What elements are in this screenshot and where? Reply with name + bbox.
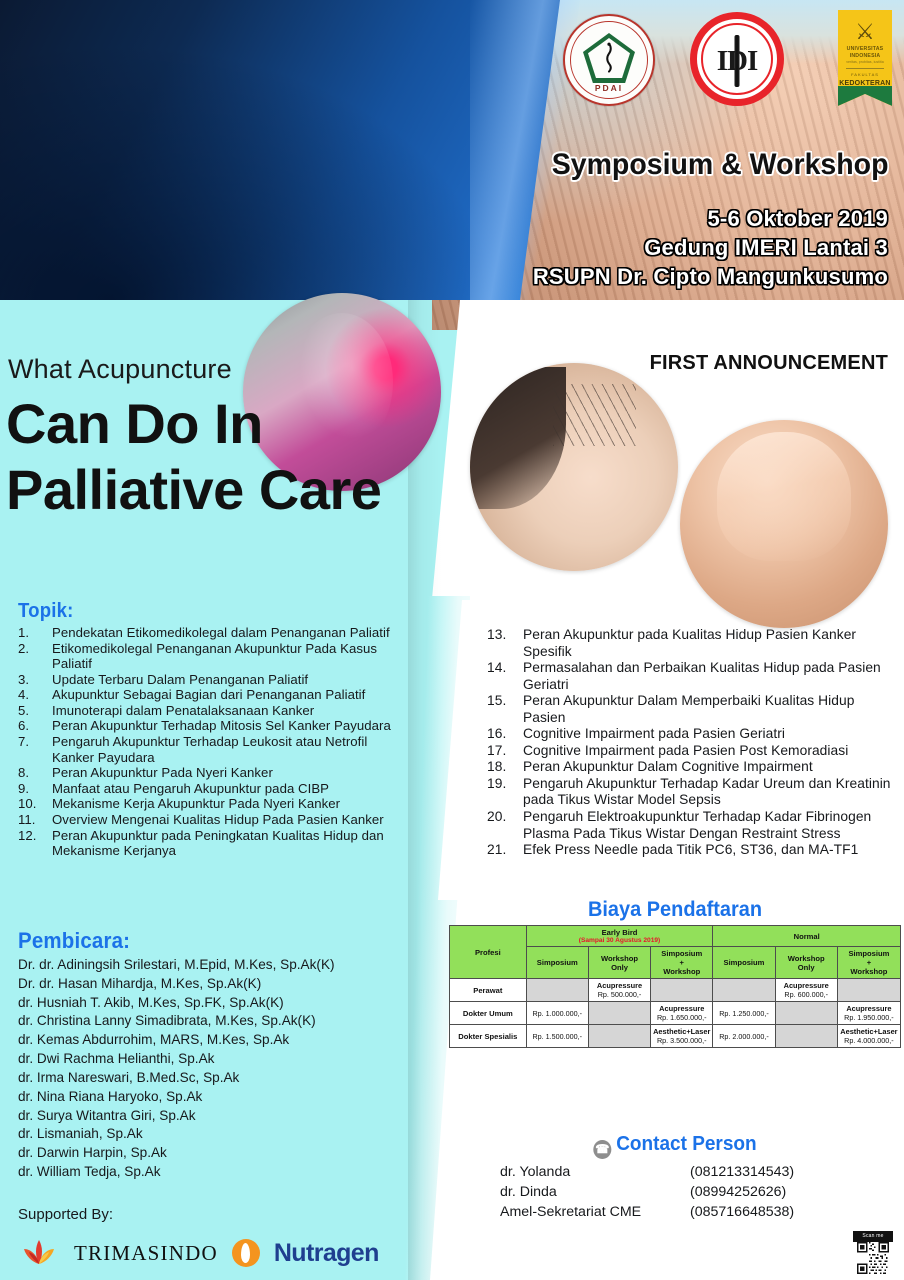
fee-cell-amount: Rp. 4.000.000,- bbox=[844, 1036, 894, 1045]
topic-item: 14.Permasalahan dan Perbaikan Kualitas H… bbox=[487, 660, 897, 693]
topic-number: 6. bbox=[18, 718, 46, 734]
table-row: Dokter SpesialisRp. 1.500.000,-Aesthetic… bbox=[450, 1025, 901, 1048]
fee-cell-price: Rp. 1.500.000,- bbox=[526, 1025, 588, 1048]
col-profesi: Profesi bbox=[450, 926, 527, 979]
speaker-item: dr. Dwi Rachma Helianthi, Sp.Ak bbox=[18, 1050, 418, 1069]
sponsor-logos: TRIMASINDO Nutragen bbox=[18, 1236, 379, 1270]
fee-cell-amount: Rp. 1.650.000,- bbox=[657, 1013, 707, 1022]
contact-person-row: dr. Yolanda(081213314543) bbox=[500, 1162, 860, 1182]
fee-cell-empty bbox=[588, 1002, 650, 1025]
topic-number: 10. bbox=[18, 796, 46, 812]
fee-subcolumn-header: WorkshopOnly bbox=[775, 947, 837, 979]
speaker-item: dr. William Tedja, Sp.Ak bbox=[18, 1163, 418, 1182]
speaker-item: dr. Lismaniah, Sp.Ak bbox=[18, 1125, 418, 1144]
ui-fakultas-label: FAKULTAS bbox=[838, 72, 892, 77]
topic-text: Pengaruh Akupunktur Terhadap Leukosit at… bbox=[52, 734, 367, 765]
topic-item: 12.Peran Akupunktur pada Peningkatan Kua… bbox=[18, 828, 406, 859]
event-institution: RSUPN Dr. Cipto Mangunkusumo bbox=[533, 262, 888, 291]
topic-number: 11. bbox=[18, 812, 46, 828]
fee-cell-empty bbox=[713, 979, 775, 1002]
fee-cell-amount: Rp. 500.000,- bbox=[598, 990, 642, 999]
speaker-item: dr. Darwin Harpin, Sp.Ak bbox=[18, 1144, 418, 1163]
topic-number: 13. bbox=[487, 627, 515, 644]
fee-cell-label: Acupressure bbox=[777, 981, 836, 990]
registration-fee-table: Profesi Early Bird (Sampai 30 Agustus 20… bbox=[449, 925, 901, 1048]
pdai-logo: PDAI bbox=[563, 14, 655, 106]
fee-subcolumn-header: Simposium+Workshop bbox=[651, 947, 713, 979]
topic-text: Peran Akupunktur Terhadap Mitosis Sel Ka… bbox=[52, 718, 391, 733]
pdai-serpent-icon bbox=[605, 43, 614, 73]
topic-item: 5.Imunoterapi dalam Penatalaksanaan Kank… bbox=[18, 703, 406, 719]
fee-cell-amount: Rp. 3.500.000,- bbox=[657, 1036, 707, 1045]
fee-row-profession: Perawat bbox=[450, 979, 527, 1002]
topic-item: 6.Peran Akupunktur Terhadap Mitosis Sel … bbox=[18, 718, 406, 734]
topic-text: Update Terbaru Dalam Penanganan Paliatif bbox=[52, 672, 308, 687]
fee-cell-price: Rp. 2.000.000,- bbox=[713, 1025, 775, 1048]
fee-cell-empty bbox=[651, 979, 713, 1002]
speaker-item: dr. Husniah T. Akib, M.Kes, Sp.FK, Sp.Ak… bbox=[18, 994, 418, 1013]
topic-number: 16. bbox=[487, 726, 515, 743]
contact-person-row: Amel-Sekretariat CME(085716648538) bbox=[500, 1202, 860, 1222]
topic-text: Efek Press Needle pada Titik PC6, ST36, … bbox=[523, 842, 858, 857]
col-group-normal: Normal bbox=[713, 926, 901, 947]
topic-number: 19. bbox=[487, 776, 515, 793]
fee-cell-price: AcupressureRp. 1.950.000,- bbox=[837, 1002, 900, 1025]
contact-heading-text: Contact Person bbox=[616, 1133, 756, 1155]
fee-table-body: PerawatAcupressureRp. 500.000,-Acupressu… bbox=[450, 979, 901, 1048]
contact-person-name: dr. Yolanda bbox=[500, 1162, 690, 1182]
fee-cell-amount: Rp. 2.000.000,- bbox=[719, 1032, 769, 1041]
topic-item: 19.Pengaruh Akupunktur Terhadap Kadar Ur… bbox=[487, 776, 897, 809]
speaker-item: dr. Nina Riana Haryoko, Sp.Ak bbox=[18, 1088, 418, 1107]
first-announcement-badge: FIRST ANNOUNCEMENT bbox=[650, 352, 888, 375]
nutragen-grain-icon bbox=[232, 1239, 260, 1267]
contact-person-list: dr. Yolanda(081213314543)dr. Dinda(08994… bbox=[500, 1162, 860, 1222]
fee-subcolumn-header: Simposium bbox=[526, 947, 588, 979]
topic-number: 5. bbox=[18, 703, 46, 719]
speakers-list: Dr. dr. Adiningsih Srilestari, M.Epid, M… bbox=[18, 956, 418, 1182]
fee-table-head: Profesi Early Bird (Sampai 30 Agustus 20… bbox=[450, 926, 901, 979]
topic-text: Manfaat atau Pengaruh Akupunktur pada CI… bbox=[52, 781, 329, 796]
topic-text: Cognitive Impairment pada Pasien Geriatr… bbox=[523, 726, 785, 741]
fee-cell-label: Acupressure bbox=[839, 1004, 899, 1013]
topic-number: 7. bbox=[18, 734, 46, 750]
topic-text: Overview Mengenai Kualitas Hidup Pada Pa… bbox=[52, 812, 384, 827]
topic-item: 8.Peran Akupunktur Pada Nyeri Kanker bbox=[18, 765, 406, 781]
topic-item: 1.Pendekatan Etikomedikolegal dalam Pena… bbox=[18, 625, 406, 641]
col-group-early-bird: Early Bird (Sampai 30 Agustus 2019) bbox=[526, 926, 713, 947]
topic-item: 15.Peran Akupunktur Dalam Memperbaiki Ku… bbox=[487, 693, 897, 726]
topics-list-left: 1.Pendekatan Etikomedikolegal dalam Pena… bbox=[18, 625, 406, 859]
fee-cell-amount: Rp. 1.500.000,- bbox=[532, 1032, 582, 1041]
topic-number: 4. bbox=[18, 687, 46, 703]
fee-cell-label: Acupressure bbox=[652, 1004, 711, 1013]
topic-number: 3. bbox=[18, 672, 46, 688]
contact-person-phone[interactable]: (085716648538) bbox=[690, 1202, 794, 1222]
topic-number: 15. bbox=[487, 693, 515, 710]
speakers-section: Pembicara: Dr. dr. Adiningsih Srilestari… bbox=[18, 928, 418, 1182]
early-bird-label: Early Bird bbox=[528, 928, 712, 937]
fee-cell-price: Rp. 1.000.000,- bbox=[526, 1002, 588, 1025]
qr-code-block[interactable]: Scan me bbox=[852, 1230, 894, 1276]
fee-cell-price: AcupressureRp. 600.000,- bbox=[775, 979, 837, 1002]
contact-heading: ☎Contact Person bbox=[460, 1133, 889, 1159]
early-bird-deadline: (Sampai 30 Agustus 2019) bbox=[528, 937, 712, 944]
fee-cell-amount: Rp. 1.000.000,- bbox=[532, 1009, 582, 1018]
event-details: 5-6 Oktober 2019 Gedung IMERI Lantai 3 R… bbox=[533, 204, 888, 291]
topic-text: Cognitive Impairment pada Pasien Post Ke… bbox=[523, 743, 848, 758]
speaker-item: dr. Kemas Abdurrohim, MARS, M.Kes, Sp.Ak bbox=[18, 1031, 418, 1050]
topic-number: 21. bbox=[487, 842, 515, 859]
poster-root: Pertemuan Ilmiah Tahunan Perhimpunan Dok… bbox=[0, 0, 904, 1280]
topic-item: 9.Manfaat atau Pengaruh Akupunktur pada … bbox=[18, 781, 406, 797]
topic-item: 10.Mekanisme Kerja Akupunktur Pada Nyeri… bbox=[18, 796, 406, 812]
fee-cell-price: AcupressureRp. 1.650.000,- bbox=[651, 1002, 713, 1025]
topic-text: Peran Akupunktur pada Peningkatan Kualit… bbox=[52, 828, 384, 859]
topic-text: Peran Akupunktur Dalam Memperbaiki Kuali… bbox=[523, 693, 854, 725]
topic-text: Pengaruh Akupunktur Terhadap Kadar Ureum… bbox=[523, 776, 891, 808]
topic-text: Mekanisme Kerja Akupunktur Pada Nyeri Ka… bbox=[52, 796, 340, 811]
fee-cell-amount: Rp. 1.250.000,- bbox=[719, 1009, 769, 1018]
topic-number: 8. bbox=[18, 765, 46, 781]
topics-right-column: 13.Peran Akupunktur pada Kualitas Hidup … bbox=[487, 625, 897, 859]
topics-list-right: 13.Peran Akupunktur pada Kualitas Hidup … bbox=[487, 627, 897, 859]
fee-cell-empty bbox=[837, 979, 900, 1002]
fee-row-profession: Dokter Umum bbox=[450, 1002, 527, 1025]
topics-left-column: Topik: 1.Pendekatan Etikomedikolegal dal… bbox=[18, 600, 406, 859]
contact-person-row: dr. Dinda(08994252626) bbox=[500, 1182, 860, 1202]
fee-cell-empty bbox=[775, 1002, 837, 1025]
topic-text: Pengaruh Elektroakupunktur Terhadap Kada… bbox=[523, 809, 871, 841]
speaker-item: dr. Christina Lanny Simadibrata, M.Kes, … bbox=[18, 1012, 418, 1031]
fee-row-profession: Dokter Spesialis bbox=[450, 1025, 527, 1048]
topic-number: 9. bbox=[18, 781, 46, 797]
topic-text: Permasalahan dan Perbaikan Kualitas Hidu… bbox=[523, 660, 881, 692]
speaker-item: Dr. dr. Hasan Mihardja, M.Kes, Sp.Ak(K) bbox=[18, 975, 418, 994]
speaker-item: dr. Surya Witantra Giri, Sp.Ak bbox=[18, 1107, 418, 1126]
topic-text: Akupunktur Sebagai Bagian dari Penangana… bbox=[52, 687, 365, 702]
topics-heading: Topik: bbox=[18, 600, 379, 623]
event-date: 5-6 Oktober 2019 bbox=[533, 204, 888, 233]
fee-cell-label: Aesthetic+Laser bbox=[652, 1027, 711, 1036]
fee-subcolumn-header: WorkshopOnly bbox=[588, 947, 650, 979]
ui-divider bbox=[846, 68, 884, 69]
fee-cell-price: Rp. 1.250.000,- bbox=[713, 1002, 775, 1025]
headline-kicker: What Acupuncture bbox=[8, 354, 232, 385]
topic-text: Etikomedikolegal Penanganan Akupunktur P… bbox=[52, 641, 377, 672]
topic-number: 20. bbox=[487, 809, 515, 826]
pdai-abbr: PDAI bbox=[565, 83, 653, 93]
facial-acupuncture-photo bbox=[470, 363, 678, 571]
fee-cell-price: AcupressureRp. 500.000,- bbox=[588, 979, 650, 1002]
topic-text: Peran Akupunktur pada Kualitas Hidup Pas… bbox=[523, 627, 856, 659]
topic-number: 17. bbox=[487, 743, 515, 760]
speaker-item: Dr. dr. Adiningsih Srilestari, M.Epid, M… bbox=[18, 956, 418, 975]
topic-number: 2. bbox=[18, 641, 46, 657]
topic-item: 3.Update Terbaru Dalam Penanganan Paliat… bbox=[18, 672, 406, 688]
topic-item: 17.Cognitive Impairment pada Pasien Post… bbox=[487, 743, 897, 760]
qr-caption: Scan me bbox=[853, 1231, 893, 1242]
topic-item: 2.Etikomedikolegal Penanganan Akupunktur… bbox=[18, 641, 406, 672]
qr-code-icon[interactable] bbox=[853, 1242, 893, 1274]
phone-icon: ☎ bbox=[593, 1140, 611, 1159]
topic-text: Imunoterapi dalam Penatalaksanaan Kanker bbox=[52, 703, 314, 718]
ui-makara-icon: ⚔ bbox=[850, 19, 880, 45]
table-row: PerawatAcupressureRp. 500.000,-Acupressu… bbox=[450, 979, 901, 1002]
topic-item: 18.Peran Akupunktur Dalam Cognitive Impa… bbox=[487, 759, 897, 776]
idi-logo: IDI bbox=[690, 12, 784, 106]
fee-cell-empty bbox=[775, 1025, 837, 1048]
contact-person-name: dr. Dinda bbox=[500, 1182, 690, 1202]
speaker-item: dr. Irma Nareswari, B.Med.Sc, Sp.Ak bbox=[18, 1069, 418, 1088]
topic-text: Peran Akupunktur Dalam Cognitive Impairm… bbox=[523, 759, 813, 774]
topic-item: 7.Pengaruh Akupunktur Terhadap Leukosit … bbox=[18, 734, 406, 765]
topic-item: 13.Peran Akupunktur pada Kualitas Hidup … bbox=[487, 627, 897, 660]
contact-person-phone[interactable]: (081213314543) bbox=[690, 1162, 794, 1182]
ui-motto: veritas, probitas, iustitia bbox=[838, 60, 892, 64]
fee-cell-label: Aesthetic+Laser bbox=[839, 1027, 899, 1036]
contact-person-phone[interactable]: (08994252626) bbox=[690, 1182, 786, 1202]
topic-text: Peran Akupunktur Pada Nyeri Kanker bbox=[52, 765, 273, 780]
sponsor-nutragen-name: Nutragen bbox=[274, 1239, 379, 1268]
header-band bbox=[0, 0, 560, 300]
topic-number: 18. bbox=[487, 759, 515, 776]
topic-item: 21.Efek Press Needle pada Titik PC6, ST3… bbox=[487, 842, 897, 859]
topic-item: 20.Pengaruh Elektroakupunktur Terhadap K… bbox=[487, 809, 897, 842]
contact-person-name: Amel-Sekretariat CME bbox=[500, 1202, 690, 1222]
topic-number: 12. bbox=[18, 828, 46, 844]
trimasindo-lotus-icon bbox=[18, 1236, 60, 1270]
fees-heading: Biaya Pendaftaran bbox=[460, 898, 889, 922]
idi-asclepius-icon bbox=[735, 35, 740, 87]
fee-cell-price: Aesthetic+LaserRp. 3.500.000,- bbox=[651, 1025, 713, 1048]
table-row: Dokter UmumRp. 1.000.000,-AcupressureRp.… bbox=[450, 1002, 901, 1025]
universitas-indonesia-logo: ⚔ UNIVERSITAS INDONESIA veritas, probita… bbox=[838, 10, 892, 106]
headline-line-2: Palliative Care bbox=[6, 462, 381, 518]
fee-cell-label: Acupressure bbox=[590, 981, 649, 990]
topic-text: Pendekatan Etikomedikolegal dalam Penang… bbox=[52, 625, 390, 640]
sponsor-trimasindo-name: TRIMASINDO bbox=[74, 1241, 218, 1266]
ui-faculty-name: KEDOKTERAN bbox=[838, 80, 892, 87]
ui-name: UNIVERSITAS INDONESIA bbox=[838, 46, 892, 59]
supported-by-label: Supported By: bbox=[18, 1206, 113, 1223]
supported-by-section: Supported By: bbox=[18, 1206, 113, 1223]
topic-number: 14. bbox=[487, 660, 515, 677]
fee-cell-price: Aesthetic+LaserRp. 4.000.000,- bbox=[837, 1025, 900, 1048]
fee-table-group-row: Profesi Early Bird (Sampai 30 Agustus 20… bbox=[450, 926, 901, 947]
fee-subcolumn-header: Simposium bbox=[713, 947, 775, 979]
topic-item: 4.Akupunktur Sebagai Bagian dari Penanga… bbox=[18, 687, 406, 703]
topic-item: 16.Cognitive Impairment pada Pasien Geri… bbox=[487, 726, 897, 743]
topic-number: 1. bbox=[18, 625, 46, 641]
fee-cell-empty bbox=[588, 1025, 650, 1048]
fee-subcolumn-header: Simposium+Workshop bbox=[837, 947, 900, 979]
headline-line-1: Can Do In bbox=[6, 396, 263, 452]
fee-cell-empty bbox=[526, 979, 588, 1002]
acupressure-photo bbox=[680, 420, 888, 628]
event-type: Symposium & Workshop bbox=[551, 148, 888, 182]
speakers-heading: Pembicara: bbox=[18, 928, 390, 954]
topic-item: 11.Overview Mengenai Kualitas Hidup Pada… bbox=[18, 812, 406, 828]
fee-cell-amount: Rp. 600.000,- bbox=[784, 990, 828, 999]
fee-cell-amount: Rp. 1.950.000,- bbox=[844, 1013, 894, 1022]
event-venue: Gedung IMERI Lantai 3 bbox=[533, 233, 888, 262]
